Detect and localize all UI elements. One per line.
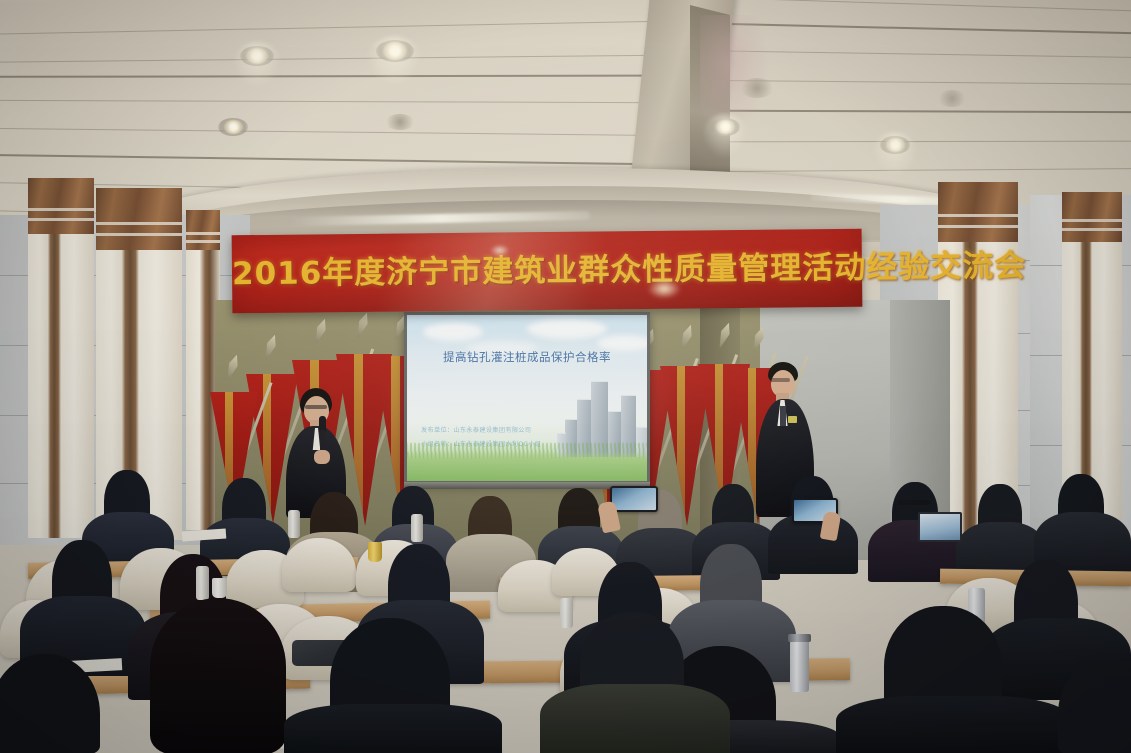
- audience-head: [0, 654, 100, 753]
- audience-head: [1058, 660, 1131, 753]
- downlight-icon: [224, 120, 243, 134]
- slide-surface[interactable]: 提高钻孔灌注桩成品保护合格率 发布单位：山东永泰建设集团有限公司 小组名称：山东…: [407, 315, 647, 481]
- column-capital: [186, 210, 220, 250]
- flag-spear-icon: [750, 325, 767, 353]
- thermos: [196, 566, 209, 600]
- thermos: [411, 514, 423, 542]
- flag-spear-icon: [262, 333, 279, 361]
- laptop[interactable]: [918, 512, 962, 542]
- downlight-unlit-icon: [740, 78, 774, 98]
- glasses-icon: [305, 405, 327, 409]
- audience-torso: [836, 696, 1072, 753]
- flag-spear-icon: [716, 321, 733, 349]
- thermos: [288, 510, 300, 538]
- flag-spear-icon: [312, 317, 329, 345]
- downlight-unlit-icon: [938, 90, 966, 107]
- raised-hand: [820, 511, 842, 542]
- cloud-icon: [423, 323, 483, 341]
- banner-title: 2016年度济宁市建筑业群众性质量管理活动经验交流会: [232, 242, 862, 294]
- slide-subtitle-1: 发布单位：山东永泰建设集团有限公司: [421, 425, 531, 434]
- event-banner: 2016年度济宁市建筑业群众性质量管理活动经验交流会: [232, 229, 863, 314]
- downlight-glow: [366, 36, 422, 86]
- column-capital: [938, 182, 1018, 242]
- hand: [314, 450, 330, 464]
- attendee-photographing-1: [600, 486, 656, 546]
- slide-title: 提高钻孔灌注桩成品保护合格率: [407, 349, 647, 365]
- column-capital: [1062, 192, 1122, 242]
- downlight-glow: [872, 132, 918, 176]
- banner-highlight: [647, 279, 681, 299]
- lapel-badge: [788, 416, 797, 423]
- projection-screen[interactable]: 提高钻孔灌注桩成品保护合格率 发布单位：山东永泰建设集团有限公司 小组名称：山东…: [404, 312, 650, 484]
- audience-torso: [540, 684, 730, 753]
- audience-front-row: [0, 600, 1131, 753]
- audience-long-hair: [150, 598, 286, 753]
- flag-spear-icon: [678, 323, 695, 351]
- necktie: [780, 406, 786, 426]
- downlight-unlit-icon: [385, 114, 415, 130]
- column-capital: [96, 188, 182, 250]
- yellow-cup: [368, 542, 382, 562]
- laptop-screen: [920, 514, 960, 540]
- flag-spear-icon: [354, 311, 371, 339]
- conference-photo: 提高钻孔灌注桩成品保护合格率 发布单位：山东永泰建设集团有限公司 小组名称：山东…: [0, 0, 1131, 753]
- smartphone[interactable]: [610, 486, 658, 512]
- audience-head: [884, 606, 1002, 710]
- audience-torso: [284, 704, 502, 753]
- cloud-icon: [527, 319, 607, 339]
- glasses-icon: [770, 378, 790, 382]
- banner-highlight: [490, 244, 510, 256]
- downlight-glow: [702, 114, 748, 158]
- phone-screen: [612, 488, 656, 510]
- glasses-icon: [898, 500, 930, 505]
- column-capital: [28, 178, 94, 234]
- downlight-glow: [232, 42, 282, 88]
- paper-cup: [212, 578, 227, 598]
